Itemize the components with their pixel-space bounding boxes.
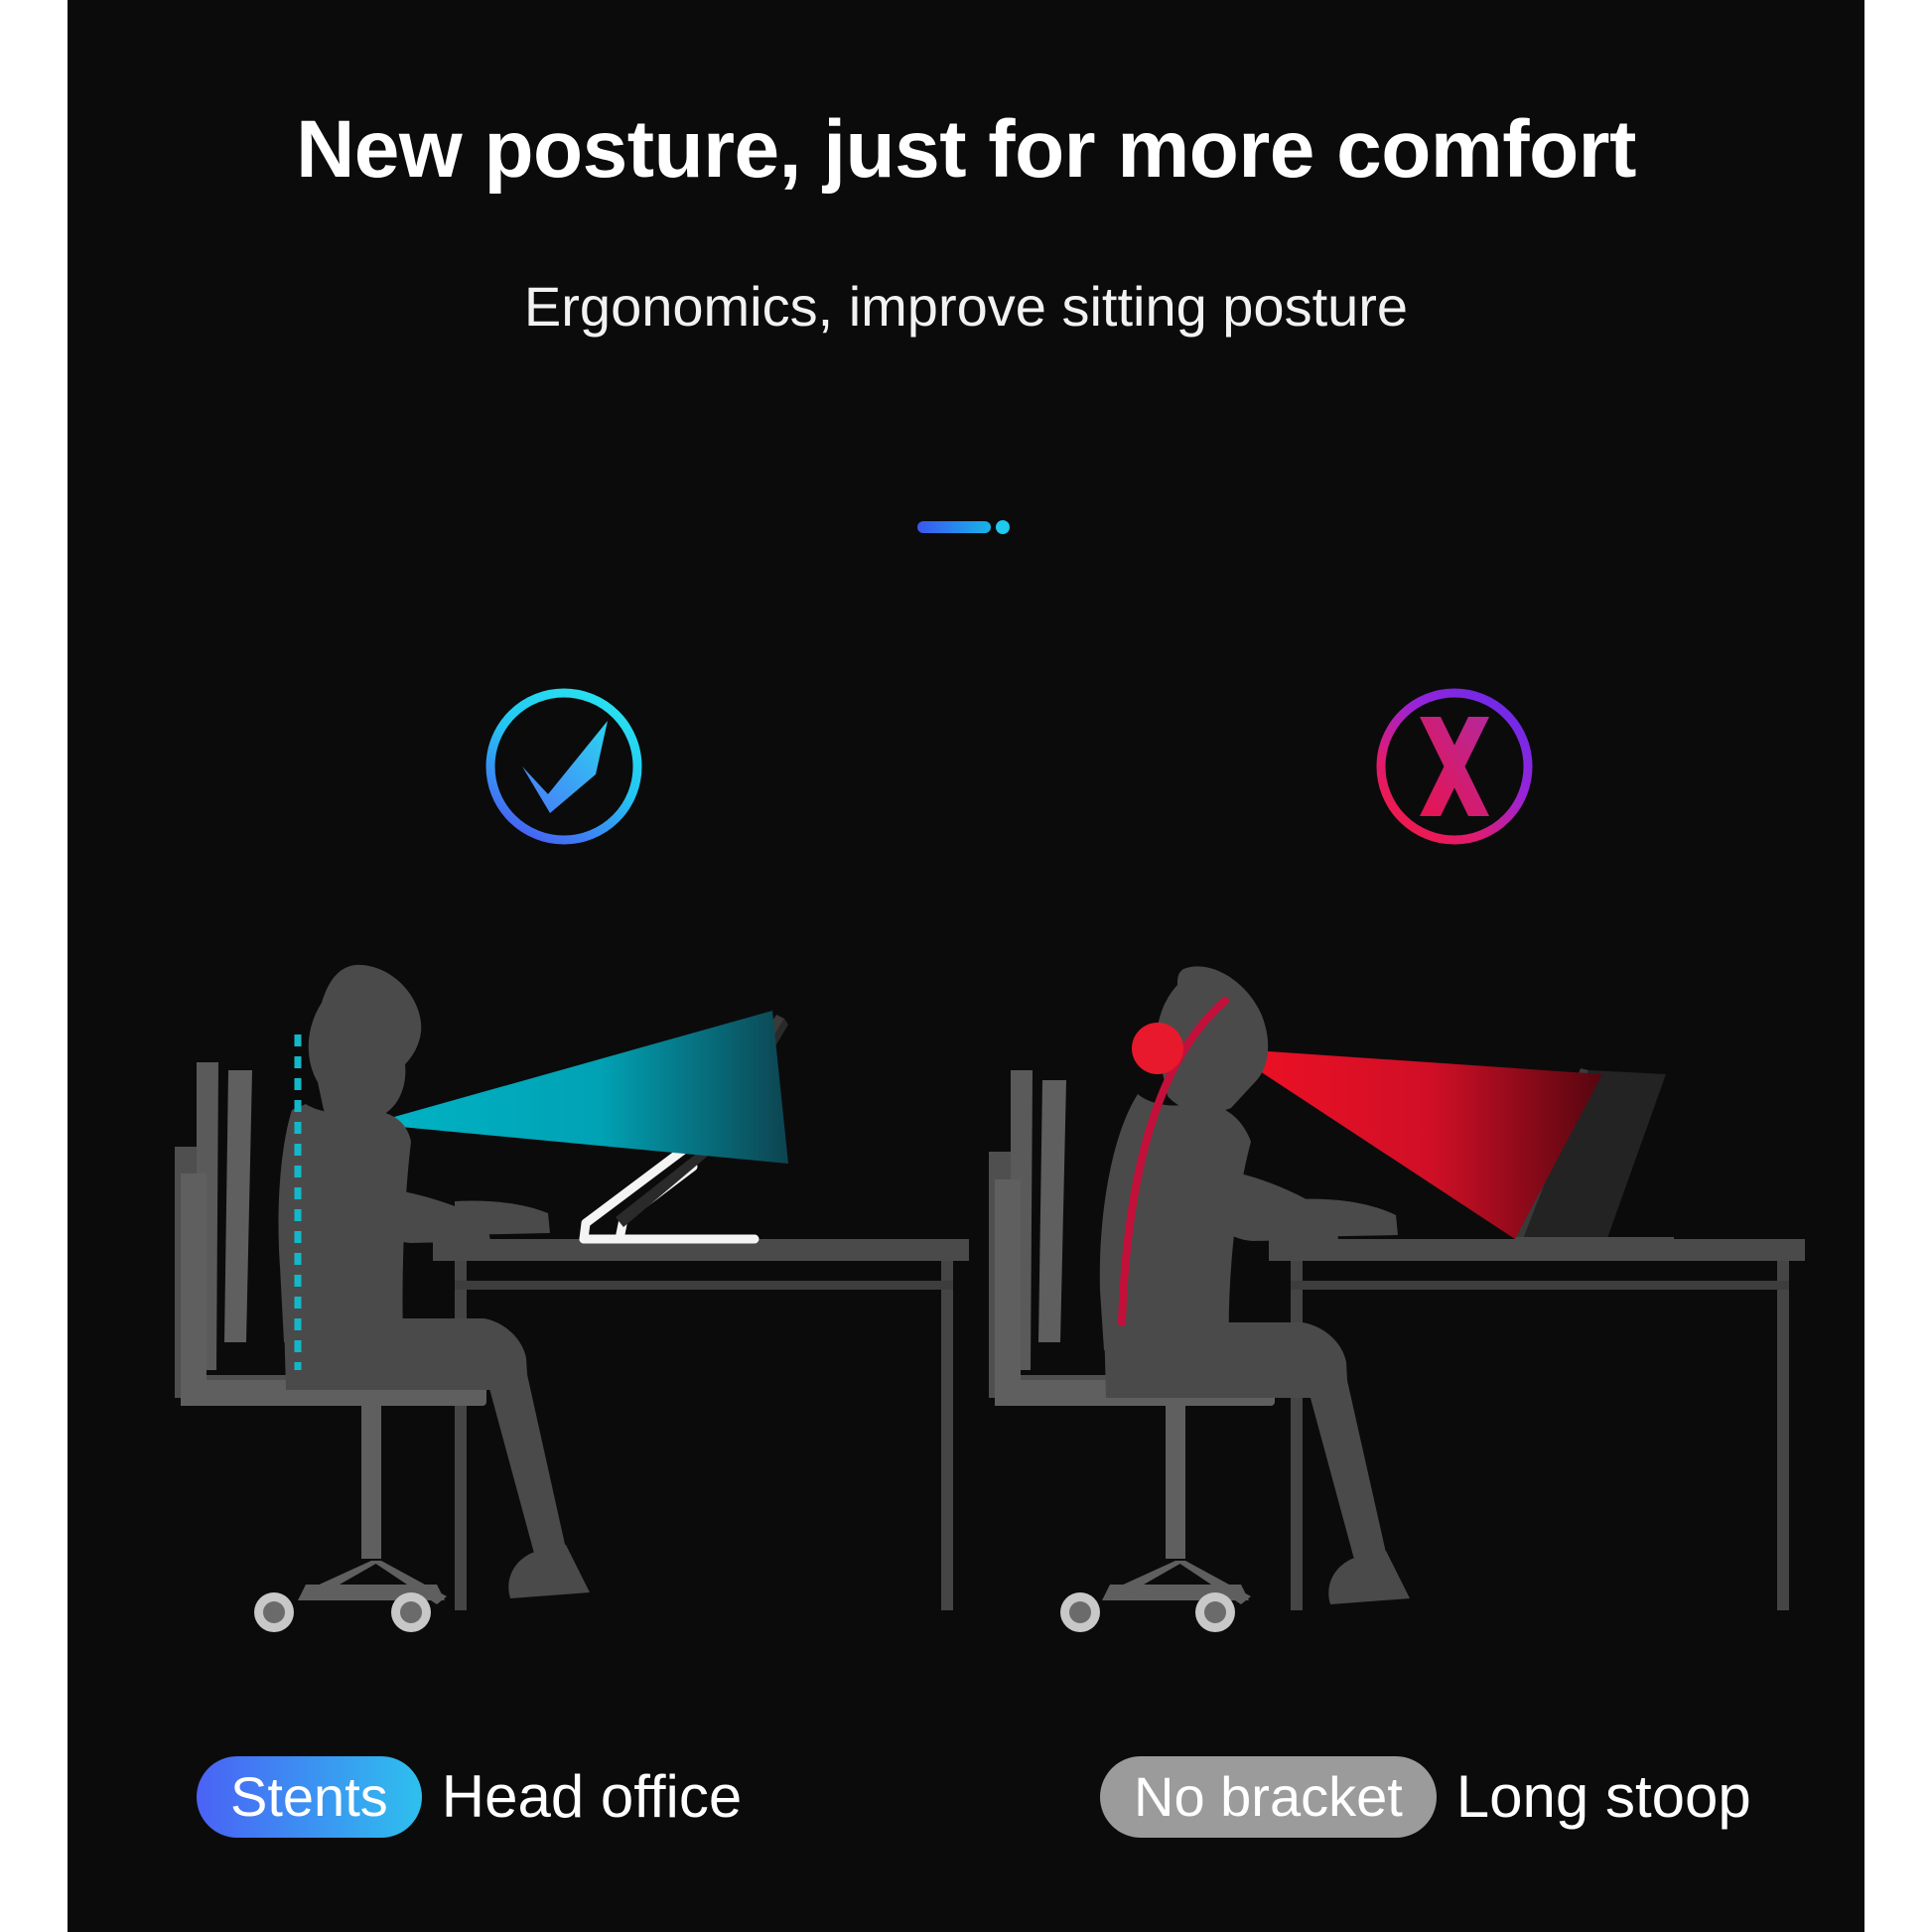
screenshot-root: New posture, just for more comfort Ergon… bbox=[0, 0, 1932, 1932]
check-circle-ring bbox=[490, 693, 637, 840]
promo-stage: New posture, just for more comfort Ergon… bbox=[68, 0, 1864, 1932]
status-badge-stents: Stents bbox=[197, 1756, 422, 1838]
page-subtitle: Ergonomics, improve sitting posture bbox=[68, 276, 1864, 338]
gaze-cone-good bbox=[369, 1011, 788, 1164]
good-posture-illustration bbox=[157, 953, 991, 1688]
legend-bad-posture: No bracket Long stoop bbox=[1100, 1749, 1751, 1845]
bad-posture-illustration bbox=[971, 953, 1805, 1688]
legend-caption-good: Head office bbox=[442, 1767, 742, 1827]
neck-pain-dot-icon bbox=[1132, 1023, 1183, 1074]
check-circle-icon bbox=[481, 683, 647, 850]
status-badge-no-bracket: No bracket bbox=[1100, 1756, 1437, 1838]
page-title: New posture, just for more comfort bbox=[68, 107, 1864, 193]
legend-good-posture: Stents Head office bbox=[197, 1749, 742, 1845]
check-mark-glyph bbox=[522, 721, 608, 813]
x-mark-glyph bbox=[1420, 717, 1489, 816]
legend-caption-bad: Long stoop bbox=[1456, 1767, 1751, 1827]
x-circle-icon bbox=[1371, 683, 1538, 850]
divider-dot bbox=[996, 520, 1010, 534]
divider-bar bbox=[917, 521, 991, 533]
gradient-divider-icon bbox=[917, 520, 1015, 534]
